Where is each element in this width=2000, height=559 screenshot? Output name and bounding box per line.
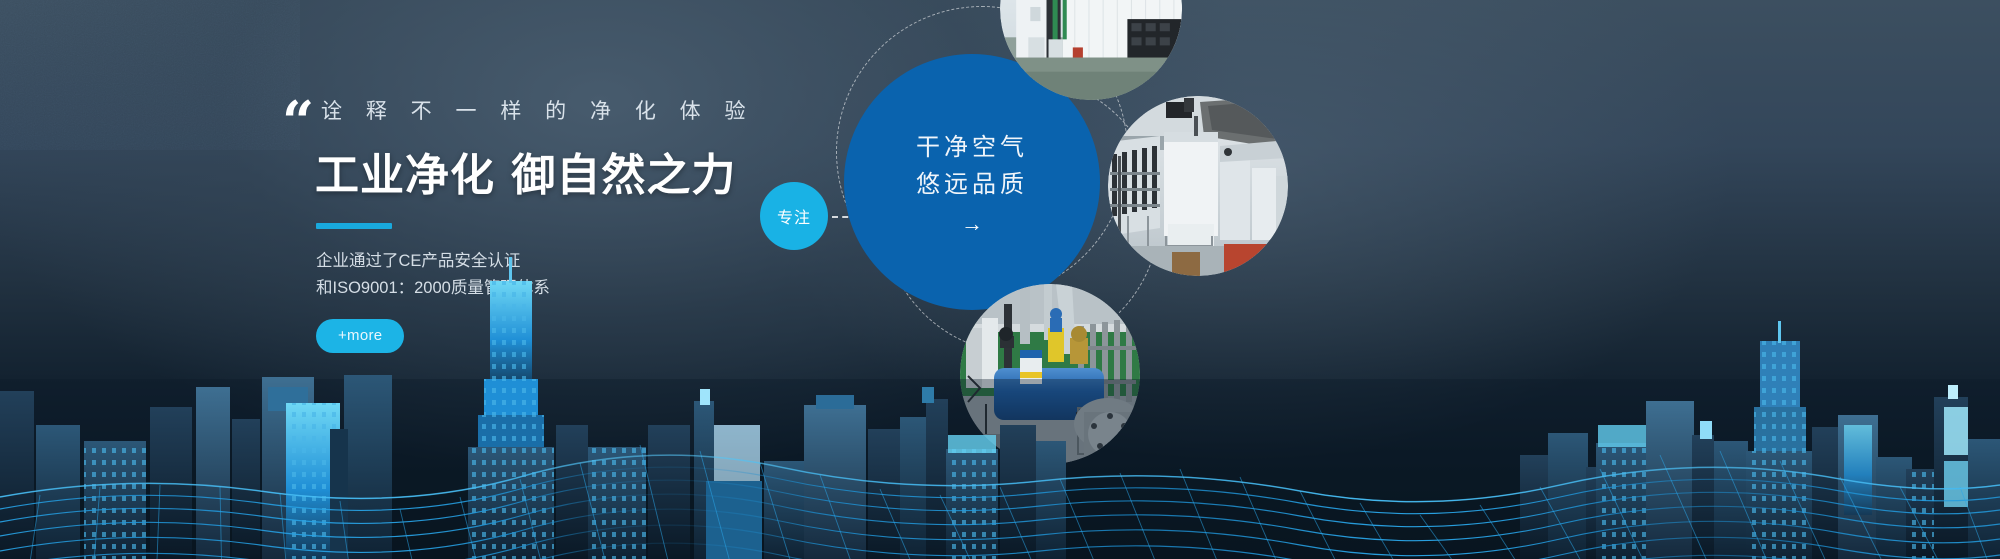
- quote-icon: “: [282, 94, 312, 150]
- hero-banner: “ 诠 释 不 一 样 的 净 化 体 验 工业净化 御自然之力 企业通过了CE…: [0, 0, 2000, 559]
- focus-badge-label: 专注: [777, 204, 811, 228]
- circle-cluster: 专注 干净空气 悠远品质 →: [760, 0, 1460, 559]
- focus-badge[interactable]: 专注: [760, 182, 828, 250]
- more-button[interactable]: +more: [316, 319, 404, 353]
- main-circle-line-2: 悠远品质: [916, 166, 1028, 203]
- piping-equipment-photo: [960, 284, 1140, 464]
- main-circle-line-1: 干净空气: [916, 129, 1028, 166]
- accent-divider: [316, 223, 392, 229]
- arrow-right-icon[interactable]: →: [961, 213, 983, 235]
- noise-texture: [0, 0, 300, 150]
- textile-machinery-photo: [1108, 96, 1288, 276]
